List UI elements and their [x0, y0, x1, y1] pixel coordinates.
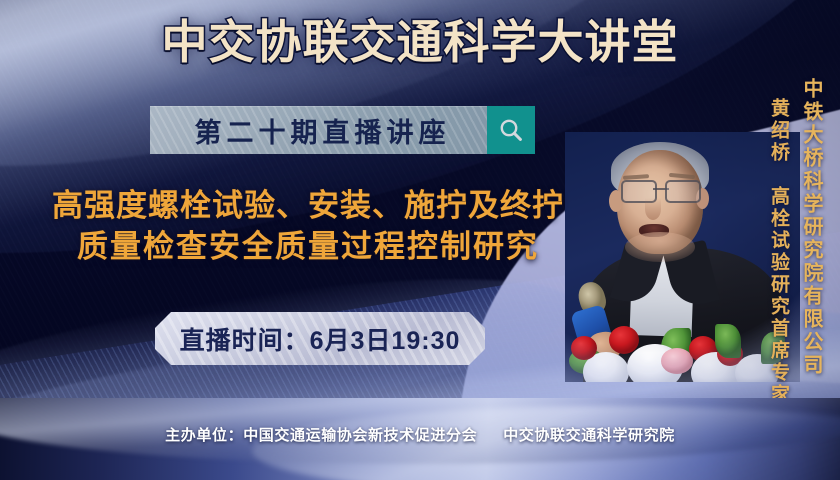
- lecture-topic: 高强度螺栓试验、安装、施拧及终拧 质量检查安全质量过程控制研究: [8, 186, 608, 268]
- footer-host-label: 主办单位：: [165, 427, 243, 444]
- speaker-name-title: 黄绍桥 高栓试验研究首席专家: [765, 98, 792, 406]
- speaker-organization: 中铁大桥科学研究院有限公司: [797, 78, 826, 377]
- page-title: 中交协联交通科学大讲堂: [0, 19, 840, 65]
- footer-host-1: 中国交通运输协会新技术促进分会: [243, 427, 477, 444]
- footer-hosts: 主办单位：中国交通运输协会新技术促进分会中交协联交通科学研究院: [0, 424, 840, 445]
- episode-label: 第二十期直播讲座: [150, 106, 487, 154]
- episode-bar: 第二十期直播讲座: [150, 106, 535, 154]
- footer-band: 主办单位：中国交通运输协会新技术促进分会中交协联交通科学研究院: [0, 398, 840, 480]
- footer-host-2: 中交协联交通科学研究院: [503, 427, 675, 444]
- lecture-topic-line-1: 高强度螺栓试验、安装、施拧及终拧: [52, 188, 564, 223]
- lecture-topic-line-2: 质量检查安全质量过程控制研究: [8, 227, 608, 268]
- live-time-label: 直播时间：6月3日19:30: [180, 321, 461, 357]
- live-stream-poster: 中交协联交通科学大讲堂 第二十期直播讲座 高强度螺栓试验、安装、施拧及终拧 质量…: [0, 0, 840, 480]
- search-button[interactable]: [487, 106, 535, 154]
- live-time-plate: 直播时间：6月3日19:30: [155, 312, 485, 365]
- search-icon: [498, 117, 524, 143]
